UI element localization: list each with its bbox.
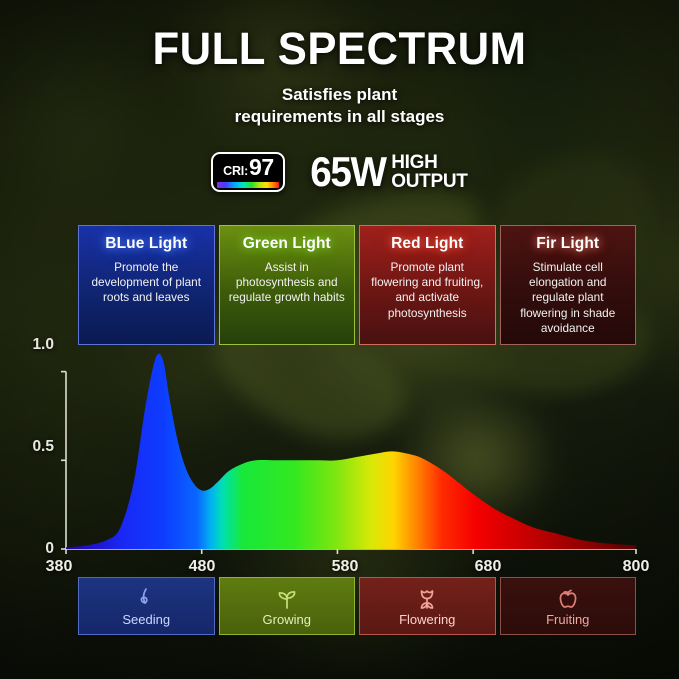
- panel-red-light: Red Light Promote plant flowering and fr…: [359, 225, 496, 345]
- apple-icon: [556, 586, 580, 611]
- x-tick-800: 800: [606, 558, 666, 576]
- panel-heading: Green Light: [243, 235, 331, 253]
- header: FULL SPECTRUM Satisfies plant requiremen…: [0, 26, 679, 129]
- panel-body: Assist in photosynthesis and regulate gr…: [227, 260, 348, 306]
- wattage-badge: 65W HIGH OUTPUT: [307, 153, 467, 192]
- cri-value: 97: [249, 156, 274, 179]
- product-infographic: FULL SPECTRUM Satisfies plant requiremen…: [0, 0, 679, 679]
- page-title: FULL SPECTRUM: [10, 26, 669, 71]
- stage-fruiting: Fruiting: [500, 577, 637, 635]
- stage-flowering: Flowering: [359, 577, 496, 635]
- x-tick-680: 680: [458, 558, 518, 576]
- x-tick-480: 480: [172, 558, 232, 576]
- badge-row: CRI: 97 65W HIGH OUTPUT: [0, 152, 679, 192]
- output-line-2: OUTPUT: [391, 172, 467, 191]
- stage-label: Fruiting: [546, 612, 589, 627]
- panel-heading: BLue Light: [105, 235, 187, 253]
- y-tick-1-0: 1.0: [8, 336, 54, 354]
- panel-body: Promote the development of plant roots a…: [86, 260, 207, 306]
- panel-blue-light: BLue Light Promote the development of pl…: [78, 225, 215, 345]
- subtitle-line-2: requirements in all stages: [0, 106, 679, 128]
- spectrum-chart: 1.0 0.5 0: [0, 330, 679, 570]
- stage-seeding: Seeding: [78, 577, 215, 635]
- output-line-1: HIGH: [391, 153, 467, 172]
- x-tick-580: 580: [315, 558, 375, 576]
- spectrum-curve-svg: [0, 330, 679, 570]
- cri-label: CRI:: [223, 164, 248, 178]
- rainbow-spectrum-icon: [217, 182, 279, 188]
- stage-label: Seeding: [122, 612, 170, 627]
- x-tick-380: 380: [29, 558, 89, 576]
- panel-body: Stimulate cell elongation and regulate p…: [508, 260, 629, 336]
- y-tick-0-5: 0.5: [8, 438, 54, 456]
- stage-growing: Growing: [219, 577, 356, 635]
- cri-badge-text: CRI: 97: [223, 156, 273, 181]
- sprout-seed-icon: [135, 586, 157, 611]
- panel-heading: Fir Light: [536, 235, 599, 253]
- y-tick-0: 0: [8, 540, 54, 558]
- subtitle-line-1: Satisfies plant: [0, 84, 679, 106]
- panel-body: Promote plant flowering and fruiting, an…: [367, 260, 488, 321]
- stage-label: Growing: [263, 612, 311, 627]
- high-output-label: HIGH OUTPUT: [391, 153, 467, 191]
- growth-stage-bar: Seeding Growing Flowering: [78, 577, 636, 635]
- wattage-value: 65W: [311, 153, 386, 192]
- tulip-icon: [415, 586, 439, 611]
- cri-badge: CRI: 97: [211, 152, 285, 192]
- seedling-icon: [275, 586, 299, 611]
- panel-heading: Red Light: [391, 235, 463, 253]
- subtitle: Satisfies plant requirements in all stag…: [0, 84, 679, 129]
- light-type-panels: BLue Light Promote the development of pl…: [78, 225, 636, 345]
- panel-green-light: Green Light Assist in photosynthesis and…: [219, 225, 356, 345]
- spectrum-area: [66, 354, 636, 549]
- stage-label: Flowering: [399, 612, 455, 627]
- panel-fir-light: Fir Light Stimulate cell elongation and …: [500, 225, 637, 345]
